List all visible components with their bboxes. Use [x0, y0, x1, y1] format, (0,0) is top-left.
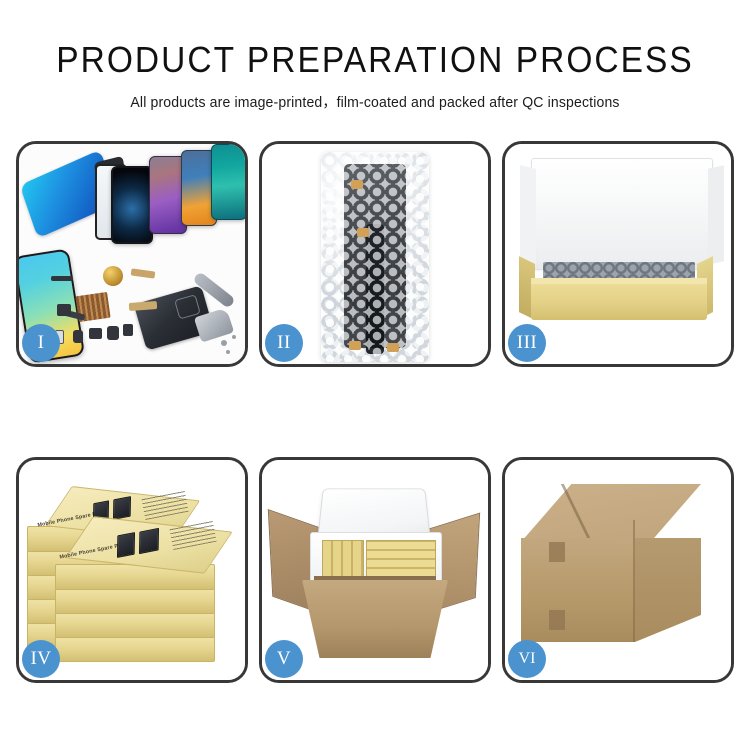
small-part-icon — [107, 326, 119, 340]
small-part-icon — [73, 330, 83, 343]
printed-screen-image — [113, 496, 131, 520]
step-badge-3: III — [508, 324, 546, 362]
phone-screen-teal-icon — [211, 144, 245, 220]
step-panel-6: VI — [502, 457, 734, 683]
foam-sheet-icon — [537, 190, 707, 262]
carton-vertical-edge — [633, 520, 635, 642]
product-preparation-infographic: PRODUCT PREPARATION PROCESS All products… — [0, 0, 750, 750]
printed-screen-image — [117, 532, 135, 558]
flex-cable-icon — [131, 268, 156, 278]
screws-icon — [221, 340, 227, 346]
carton-front-face — [521, 538, 635, 642]
small-part-icon — [57, 304, 71, 316]
step-badge-4: IV — [22, 640, 60, 678]
step-panel-3: III — [502, 141, 734, 367]
small-part-icon — [89, 328, 102, 339]
yellow-inner-box-icon — [531, 284, 707, 320]
tape-piece-icon — [349, 341, 361, 350]
bubble-texture — [321, 152, 429, 362]
step-badge-2: II — [265, 324, 303, 362]
process-steps-grid: I II — [16, 141, 734, 683]
box-layer — [55, 612, 215, 638]
tape-piece-icon — [387, 343, 399, 352]
carton-tape-upper — [549, 542, 565, 562]
step-panel-5: V — [259, 457, 491, 683]
page-subtitle: All products are image-printed，film-coat… — [11, 91, 739, 112]
carton-tape-lower — [549, 610, 565, 630]
tape-piece-icon — [357, 228, 369, 237]
step-badge-1: I — [22, 324, 60, 362]
step-badge-5: V — [265, 640, 303, 678]
box-stack-icon: Mobile Phone Spare Parts Mobile Phone Sp… — [27, 476, 235, 666]
cardboard-carton-icon — [302, 580, 448, 658]
header: PRODUCT PREPARATION PROCESS All products… — [0, 40, 750, 112]
phone-screen-dark-icon — [111, 166, 153, 244]
step-panel-1: I — [16, 141, 248, 367]
small-part-icon — [51, 276, 73, 281]
box-layer — [55, 636, 215, 662]
carton-side-face — [635, 538, 701, 642]
step-panel-4: Mobile Phone Spare Parts Mobile Phone Sp… — [16, 457, 248, 683]
bubble-wrap-bag-icon — [321, 152, 429, 362]
printed-screen-image — [139, 528, 159, 554]
speaker-module-icon — [103, 266, 123, 286]
carton-top-face — [521, 484, 701, 542]
box-layer — [55, 588, 215, 614]
page-title: PRODUCT PREPARATION PROCESS — [26, 40, 724, 80]
step-badge-6: VI — [508, 640, 546, 678]
tape-piece-icon — [351, 180, 363, 189]
step-panel-2: II — [259, 141, 491, 367]
small-part-icon — [123, 324, 133, 336]
